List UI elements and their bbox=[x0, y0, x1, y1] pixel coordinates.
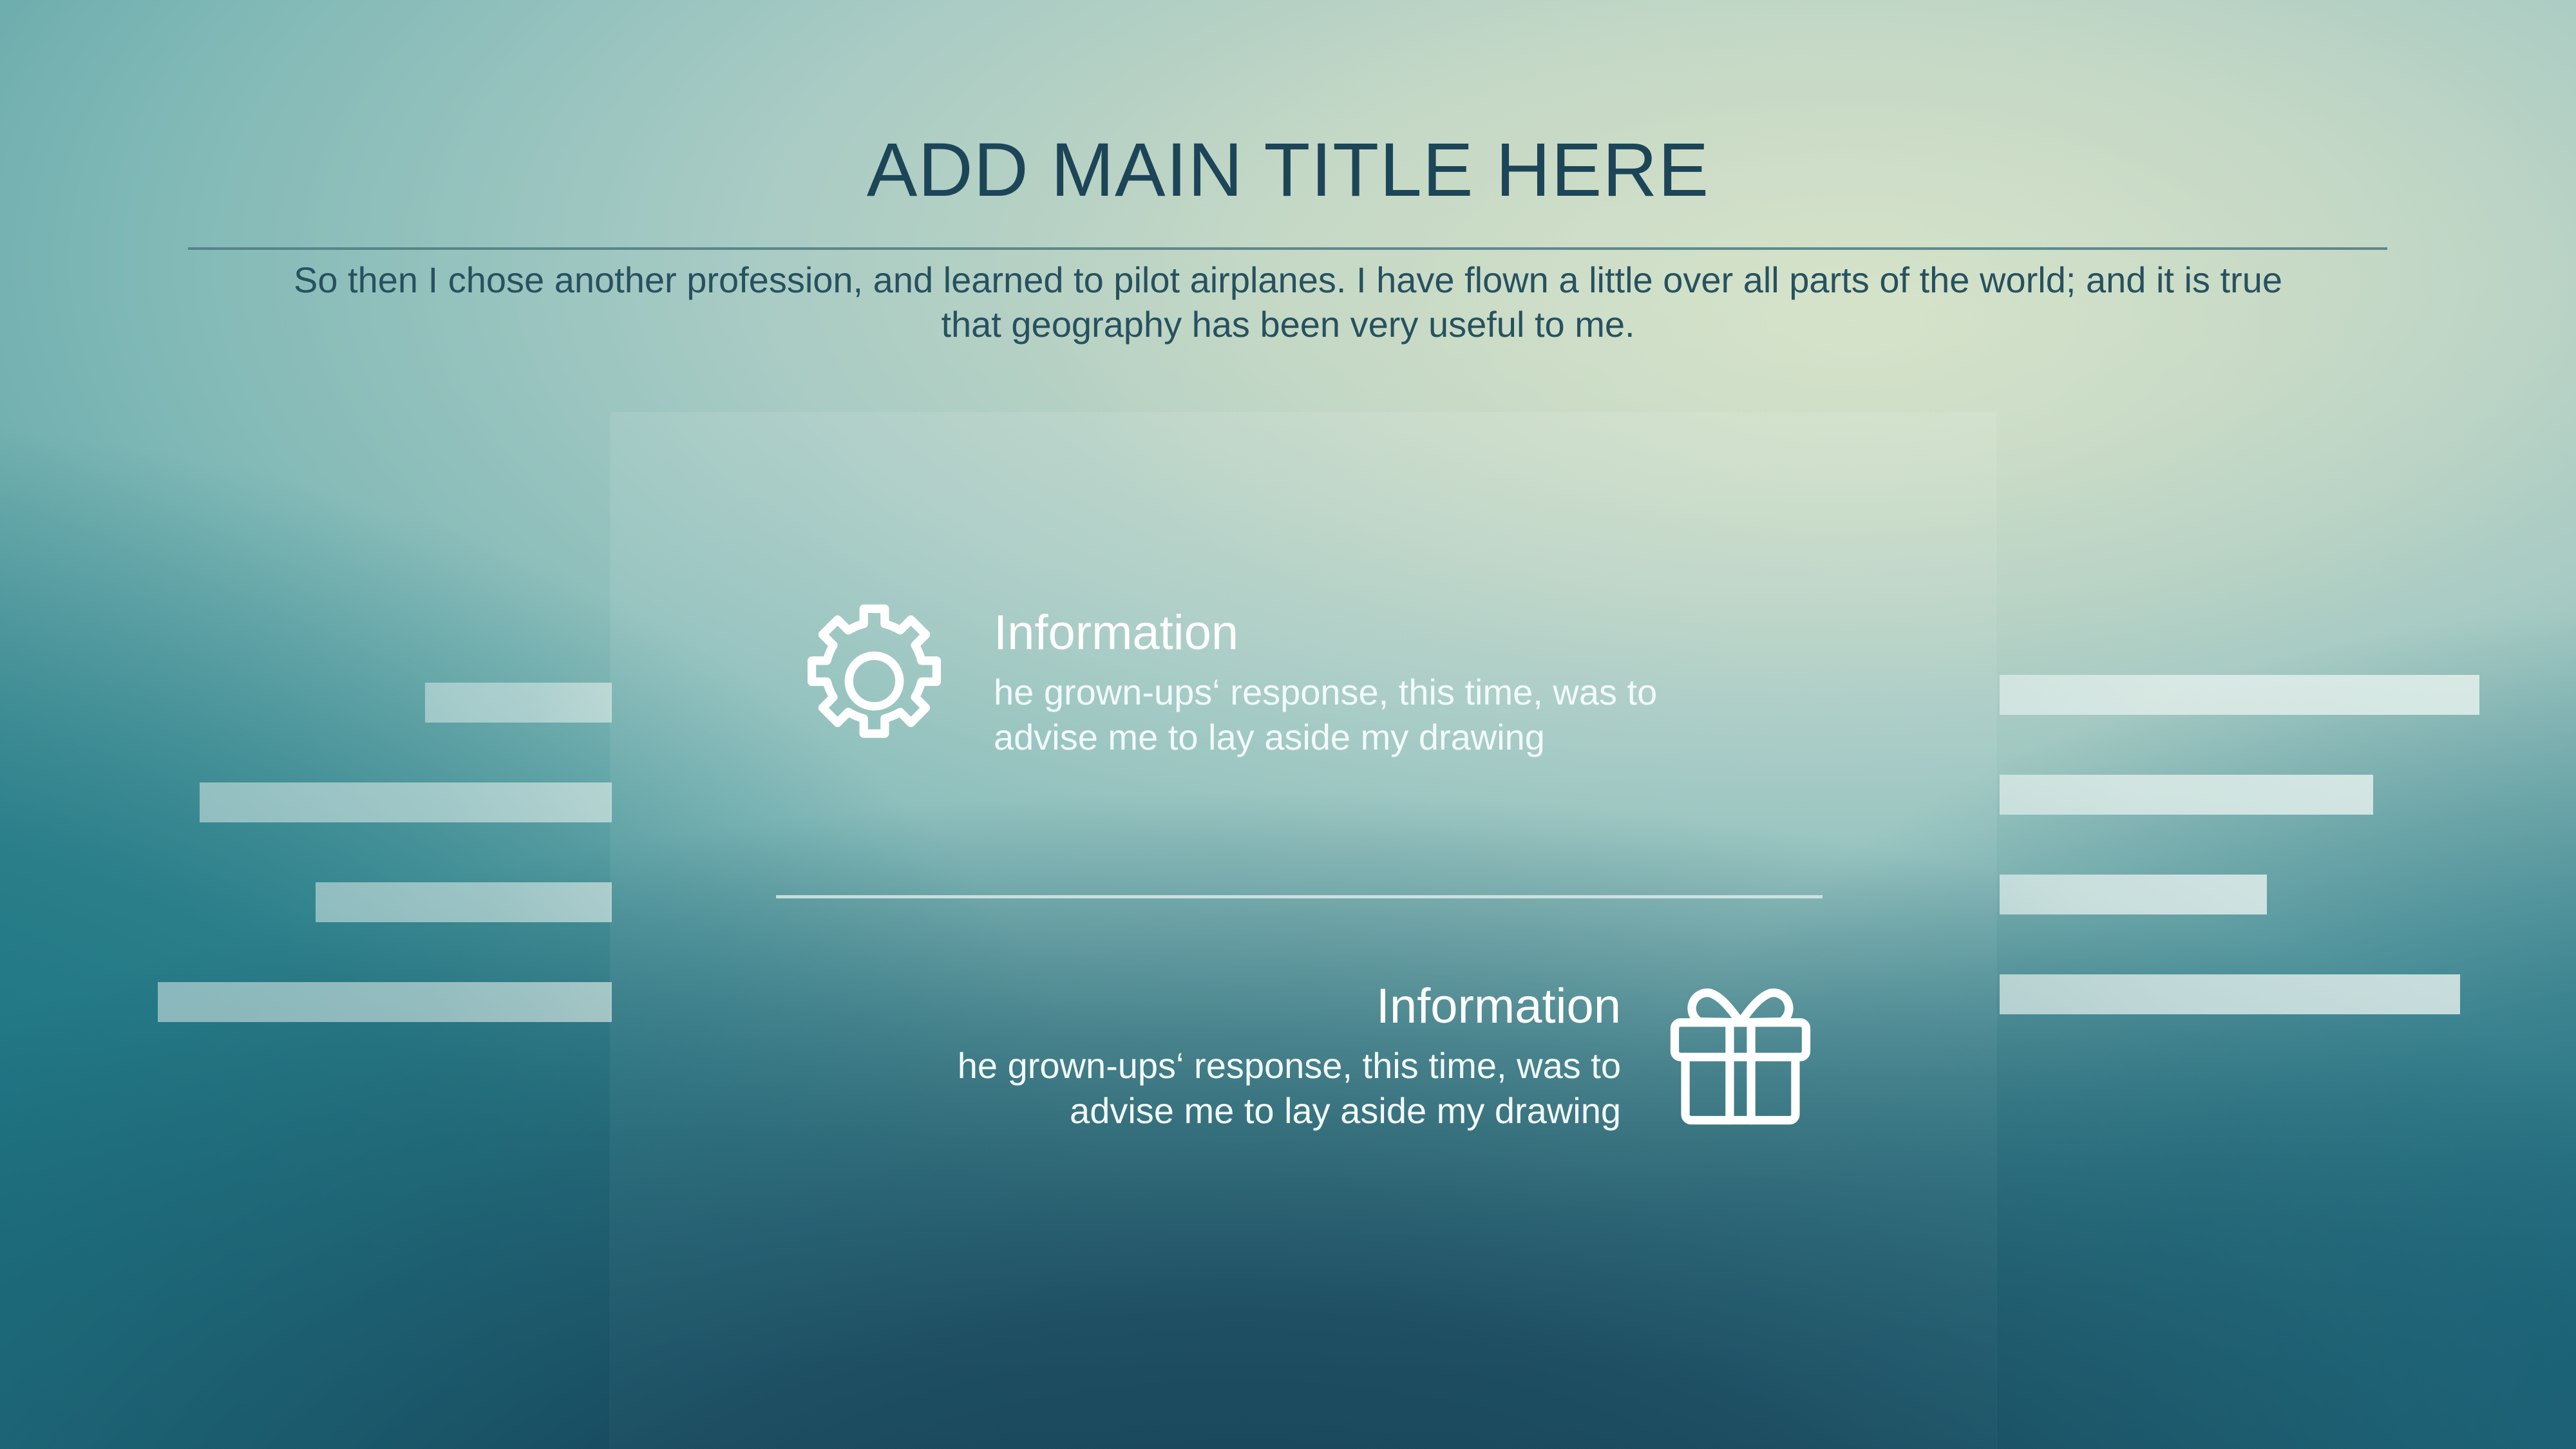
decorative-bar bbox=[2000, 875, 2267, 914]
header-divider-rule bbox=[188, 247, 2387, 250]
info-body: he grown-ups‘ response, this time, was t… bbox=[913, 1043, 1621, 1134]
decorative-bar bbox=[158, 982, 612, 1022]
decorative-bar bbox=[425, 683, 612, 723]
decorative-bar bbox=[2000, 775, 2373, 815]
gear-icon bbox=[792, 599, 956, 763]
page-title: ADD MAIN TITLE HERE bbox=[0, 132, 2576, 208]
decorative-bar bbox=[316, 882, 612, 922]
page-subtitle: So then I chose another profession, and … bbox=[283, 258, 2293, 347]
info-block-gear[interactable]: Information he grown-ups‘ response, this… bbox=[792, 599, 1823, 763]
slide-canvas: ADD MAIN TITLE HERE So then I chose anot… bbox=[0, 0, 2576, 1449]
decorative-bar bbox=[2000, 675, 2479, 715]
info-heading: Information bbox=[913, 981, 1621, 1032]
info-blocks-divider bbox=[776, 895, 1823, 898]
info-body: he grown-ups‘ response, this time, was t… bbox=[994, 670, 1702, 761]
center-content-panel bbox=[611, 412, 1996, 1449]
info-text-gift: Information he grown-ups‘ response, this… bbox=[913, 972, 1621, 1134]
gift-icon bbox=[1658, 972, 1823, 1137]
info-block-gift[interactable]: Information he grown-ups‘ response, this… bbox=[805, 972, 1823, 1137]
decorative-bar bbox=[2000, 974, 2460, 1014]
info-text-gear: Information he grown-ups‘ response, this… bbox=[994, 599, 1702, 761]
info-heading: Information bbox=[994, 608, 1702, 658]
decorative-bar bbox=[200, 782, 612, 822]
